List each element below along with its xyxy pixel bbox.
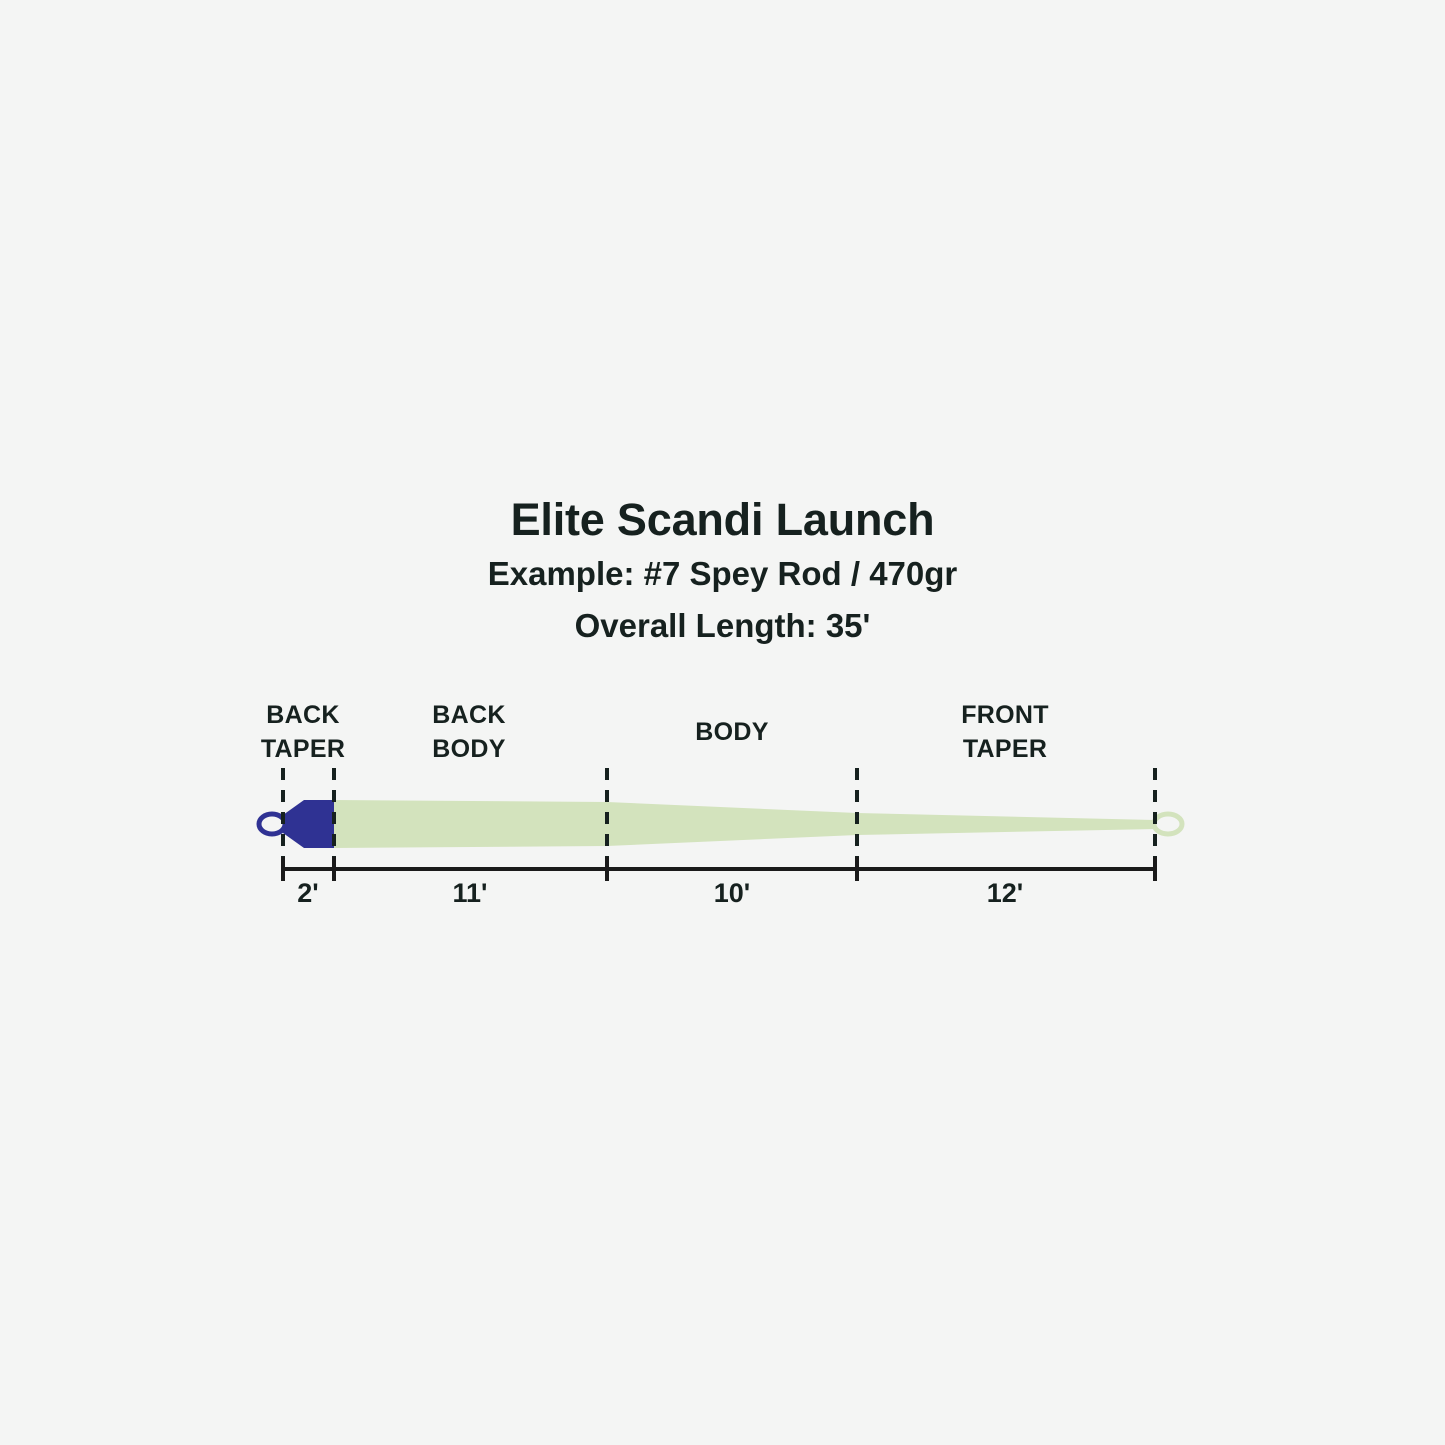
diagram-canvas: Elite Scandi Launch Example: #7 Spey Rod… bbox=[0, 0, 1445, 1445]
line-body-shape bbox=[334, 800, 1155, 848]
back-taper-shape bbox=[283, 800, 334, 848]
front-loop-icon bbox=[1154, 814, 1182, 834]
taper-profile-graphic bbox=[0, 0, 1445, 1445]
